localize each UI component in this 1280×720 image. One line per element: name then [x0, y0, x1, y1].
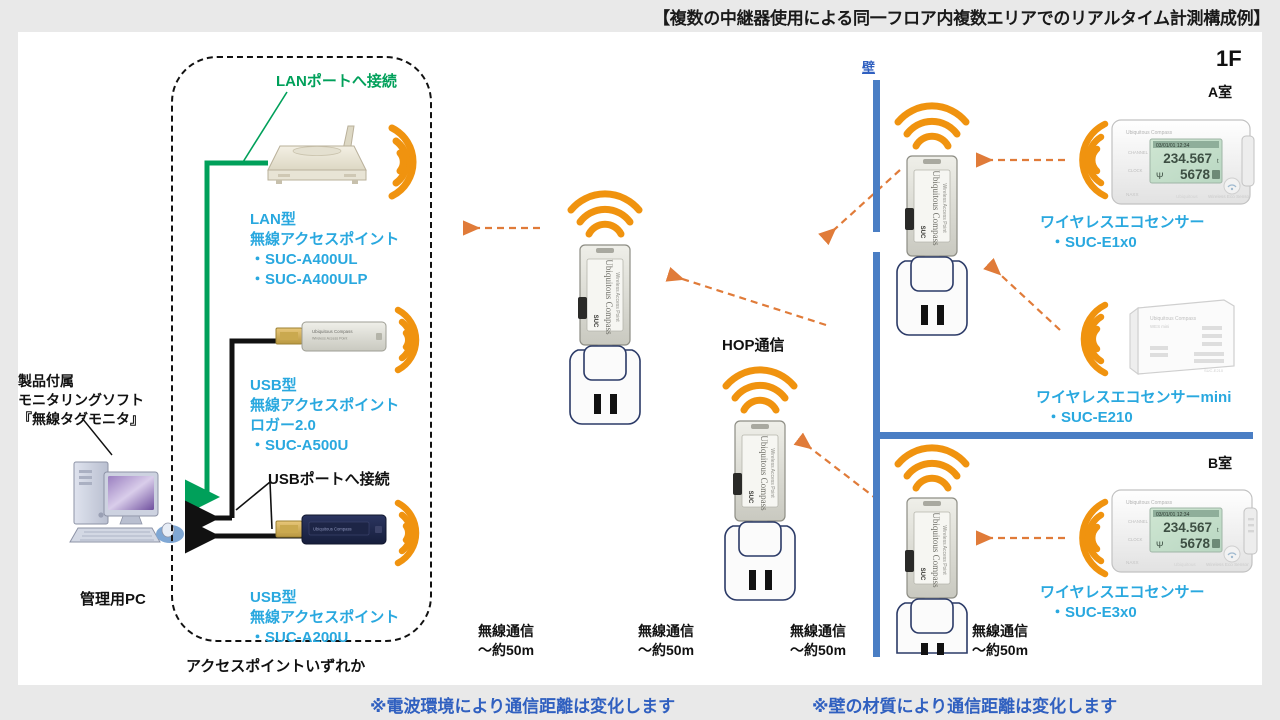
lan-port-note: LANポートへ接続 [276, 70, 397, 91]
distance-label-3-line1: 無線通信 [790, 622, 846, 641]
pc-caption: 管理用PC [80, 588, 146, 609]
access-point-group-boundary [171, 56, 432, 642]
distance-label-3-line2: 〜約50m [790, 641, 846, 660]
distance-label-4-line1: 無線通信 [972, 622, 1028, 641]
distance-label-1-line2: 〜約50m [478, 641, 534, 660]
distance-label-1: 無線通信 〜約50m [478, 622, 534, 660]
footnote-radio-environment: ※電波環境により通信距離は変化します [370, 692, 675, 717]
lan-ap-model1: ・SUC-A400UL [250, 250, 399, 270]
floor-label: 1F [1216, 46, 1242, 72]
distance-label-3: 無線通信 〜約50m [790, 622, 846, 660]
distance-label-4: 無線通信 〜約50m [972, 622, 1028, 660]
lan-ap-line2: 無線アクセスポイント [250, 230, 399, 250]
lan-ap-model2: ・SUC-A400ULP [250, 270, 399, 290]
wall-vertical-upper [873, 80, 880, 232]
pc-software-note-line1: 製品付属 [18, 372, 144, 391]
sensor-name-e3x0: ワイヤレスエコセンサー [1040, 583, 1205, 603]
sensor-model-e3x0: ・SUC-E3x0 [1040, 603, 1205, 623]
sensor-name-e210: ワイヤレスエコセンサーmini [1036, 388, 1231, 408]
usb-logger-line2: 無線アクセスポイント [250, 396, 399, 416]
usb-ap-line1: USB型 [250, 588, 399, 608]
room-label-b: B室 [1208, 453, 1232, 473]
pc-software-note: 製品付属 モニタリングソフト 『無線タグモニタ』 [18, 372, 144, 429]
usb-logger-model1: ・SUC-A500U [250, 436, 399, 456]
usb-ap-label: USB型 無線アクセスポイント ・SUC-A200U [250, 588, 399, 648]
sensor-label-e210: ワイヤレスエコセンサーmini ・SUC-E210 [1036, 388, 1231, 428]
pc-software-note-line3: 『無線タグモニタ』 [18, 410, 144, 429]
wall-label: 壁 [862, 57, 875, 76]
access-point-group-label: アクセスポイントいずれか [186, 655, 365, 676]
sensor-model-e1x0: ・SUC-E1x0 [1040, 233, 1205, 253]
room-label-a: A室 [1208, 82, 1232, 102]
usb-logger-label: USB型 無線アクセスポイント ロガー2.0 ・SUC-A500U [250, 376, 399, 456]
usb-logger-line1: USB型 [250, 376, 399, 396]
distance-label-4-line2: 〜約50m [972, 641, 1028, 660]
hop-communication-label: HOP通信 [722, 334, 785, 355]
sensor-name-e1x0: ワイヤレスエコセンサー [1040, 213, 1205, 233]
distance-label-2-line1: 無線通信 [638, 622, 694, 641]
usb-port-note: USBポートへ接続 [268, 468, 390, 489]
usb-ap-model1: ・SUC-A200U [250, 628, 399, 648]
sensor-model-e210: ・SUC-E210 [1036, 408, 1231, 428]
pc-software-note-line2: モニタリングソフト [18, 391, 144, 410]
wall-horizontal-divider [873, 432, 1253, 439]
diagram-root: 【複数の中継器使用による同一フロア内複数エリアでのリアルタイム計測構成例】 [0, 0, 1280, 720]
lan-ap-line1: LAN型 [250, 210, 399, 230]
footnote-wall-material: ※壁の材質により通信距離は変化します [812, 692, 1117, 717]
distance-label-1-line1: 無線通信 [478, 622, 534, 641]
wall-vertical-lower [873, 252, 880, 657]
distance-label-2: 無線通信 〜約50m [638, 622, 694, 660]
distance-label-2-line2: 〜約50m [638, 641, 694, 660]
usb-logger-line3: ロガー2.0 [250, 416, 399, 436]
sensor-label-e1x0: ワイヤレスエコセンサー ・SUC-E1x0 [1040, 213, 1205, 253]
lan-ap-label: LAN型 無線アクセスポイント ・SUC-A400UL ・SUC-A400ULP [250, 210, 399, 290]
page-title: 【複数の中継器使用による同一フロア内複数エリアでのリアルタイム計測構成例】 [653, 4, 1270, 29]
usb-ap-line2: 無線アクセスポイント [250, 608, 399, 628]
sensor-label-e3x0: ワイヤレスエコセンサー ・SUC-E3x0 [1040, 583, 1205, 623]
